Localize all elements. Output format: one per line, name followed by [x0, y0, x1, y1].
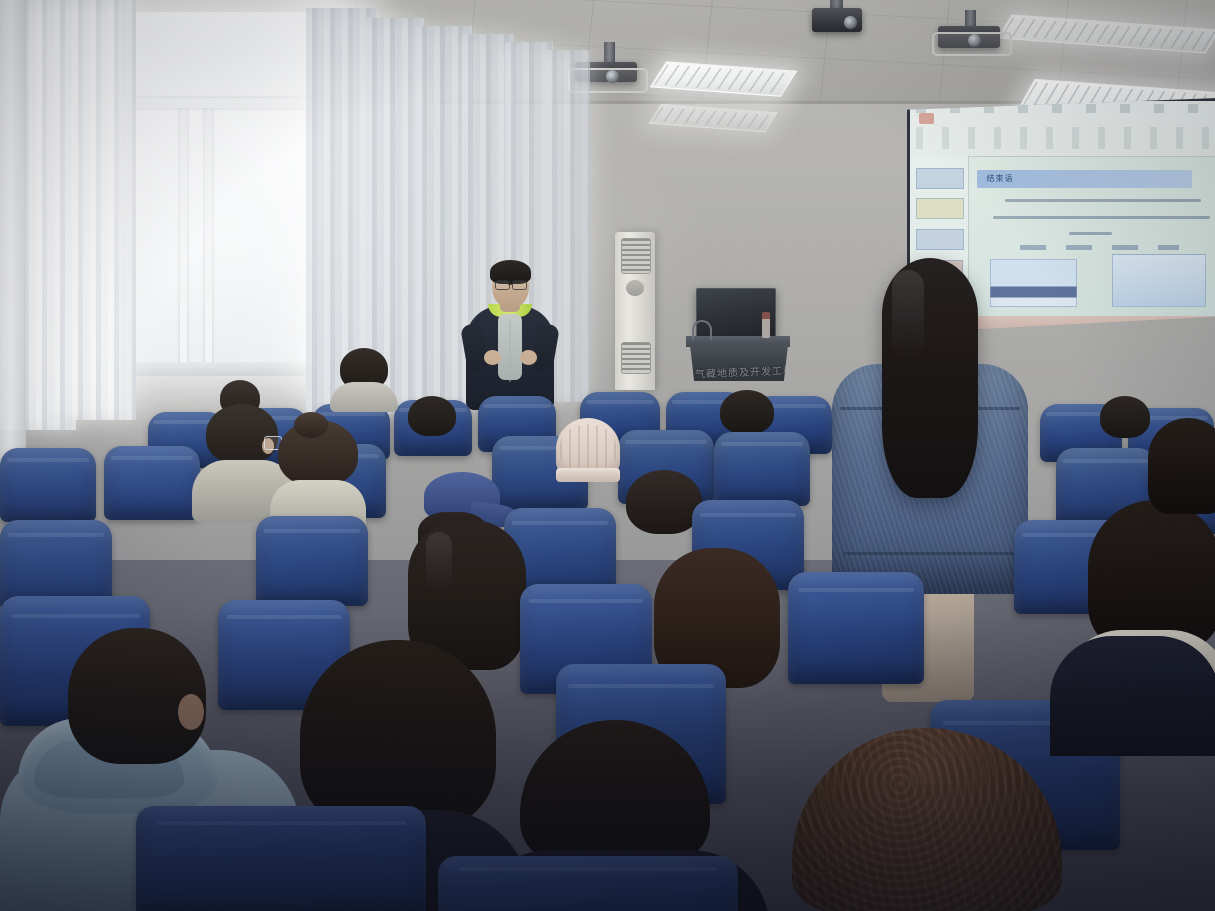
slide-body-line: [993, 216, 1210, 219]
slide-body-line: [1005, 199, 1201, 202]
seat-crease: [721, 442, 804, 446]
ac-upper-vent: [621, 238, 652, 274]
presenter-glasses: [512, 280, 527, 290]
presenter-jacket-zipper: [509, 320, 511, 382]
projector-lens-right: [968, 34, 981, 47]
ac-brand-badge: [626, 280, 644, 296]
ribbon-file-tab: [919, 113, 934, 124]
seat-crease: [586, 400, 655, 404]
projector-lens-center: [844, 16, 857, 29]
seat[interactable]: [0, 448, 96, 522]
attendee-curly-hair: [762, 728, 1092, 911]
seat-crease: [700, 513, 796, 517]
attendee-hair: [1100, 396, 1150, 438]
seat-crease: [459, 867, 717, 871]
seat-crease: [625, 440, 708, 444]
seat-crease: [568, 684, 714, 688]
attendee-back-row: [336, 348, 392, 406]
attendee-ear: [178, 694, 204, 730]
slide-body-line: [1069, 232, 1112, 235]
attendee-hair-sheen: [426, 532, 452, 592]
attendee-shoulders: [330, 382, 398, 412]
attendee-shoulders: [1050, 636, 1215, 756]
attendee-pink-beanie: [552, 418, 624, 504]
presenter: [462, 258, 558, 408]
seat-crease: [156, 821, 405, 825]
beanie-knit-texture: [560, 424, 616, 468]
seat-back: [438, 856, 738, 911]
presenter-glasses-bridge: [508, 283, 512, 285]
slide-thumbnail: [916, 168, 965, 189]
seat-crease: [8, 533, 104, 537]
podium-sign: 油气藏地质及开发工程: [691, 360, 787, 382]
seat-crease: [264, 529, 360, 533]
powerpoint-ribbon: [910, 101, 1215, 157]
seat-crease: [1063, 459, 1149, 463]
attendee-hair: [300, 640, 496, 830]
standing-attendee-hair-sheen: [892, 270, 924, 360]
cabinet-air-conditioner: [615, 232, 655, 390]
seat-crease: [7, 458, 90, 462]
attendee-hair-bun: [294, 412, 328, 438]
seat-crease: [483, 404, 550, 408]
slide-thumbnail: [916, 229, 965, 250]
seat-crease: [111, 456, 194, 460]
attendee-hair: [1148, 418, 1215, 514]
seat[interactable]: [104, 446, 200, 520]
seat[interactable]: [714, 432, 810, 506]
attendee-right-edge-3: [1050, 596, 1215, 756]
water-bottle: [762, 312, 770, 338]
slide-thumbnail: [916, 198, 965, 219]
lectern: 油气藏地质及开发工程: [688, 345, 790, 381]
seat[interactable]: [438, 856, 738, 911]
slide-image-right: [1112, 254, 1206, 306]
seat[interactable]: [136, 806, 426, 911]
ribbon-icon-row: [916, 127, 1210, 149]
projector-mount-left: [604, 42, 615, 64]
window-mullion-vertical-b: [205, 104, 212, 366]
presenter-glasses: [495, 280, 510, 290]
projector-lens-left: [606, 70, 619, 83]
attendee-hair: [520, 720, 710, 870]
window-mullion-vertical-a: [180, 104, 187, 366]
attendee-back-row: [404, 396, 460, 446]
attendee-hair: [408, 396, 456, 436]
seat-crease: [317, 412, 384, 416]
presenter-hand-right: [520, 350, 537, 365]
attendee-hair: [720, 390, 774, 434]
attendee-back-row: [1096, 396, 1154, 448]
attendee-hair: [206, 404, 278, 464]
ac-lower-vent: [621, 342, 652, 374]
lecture-hall-photo: 结束语 油气藏地质及开发工程: [0, 0, 1215, 911]
wall-pillar: [0, 0, 26, 470]
attendee-hair-curl-texture: [792, 728, 1062, 911]
seat[interactable]: [788, 572, 924, 684]
slide-title-text: 结束语: [987, 173, 1014, 184]
attendee-hair: [626, 470, 702, 534]
seat-crease: [798, 588, 915, 592]
presenter-hand-left: [484, 350, 501, 365]
seat[interactable]: [256, 516, 368, 606]
gooseneck-microphone: [692, 320, 712, 340]
slide-logo-row: [1020, 245, 1179, 250]
attendee-right-edge-2: [1148, 418, 1215, 558]
beanie-brim: [556, 468, 620, 482]
curtain-center-panel[interactable]: [54, 0, 136, 420]
seat-crease: [529, 599, 643, 603]
